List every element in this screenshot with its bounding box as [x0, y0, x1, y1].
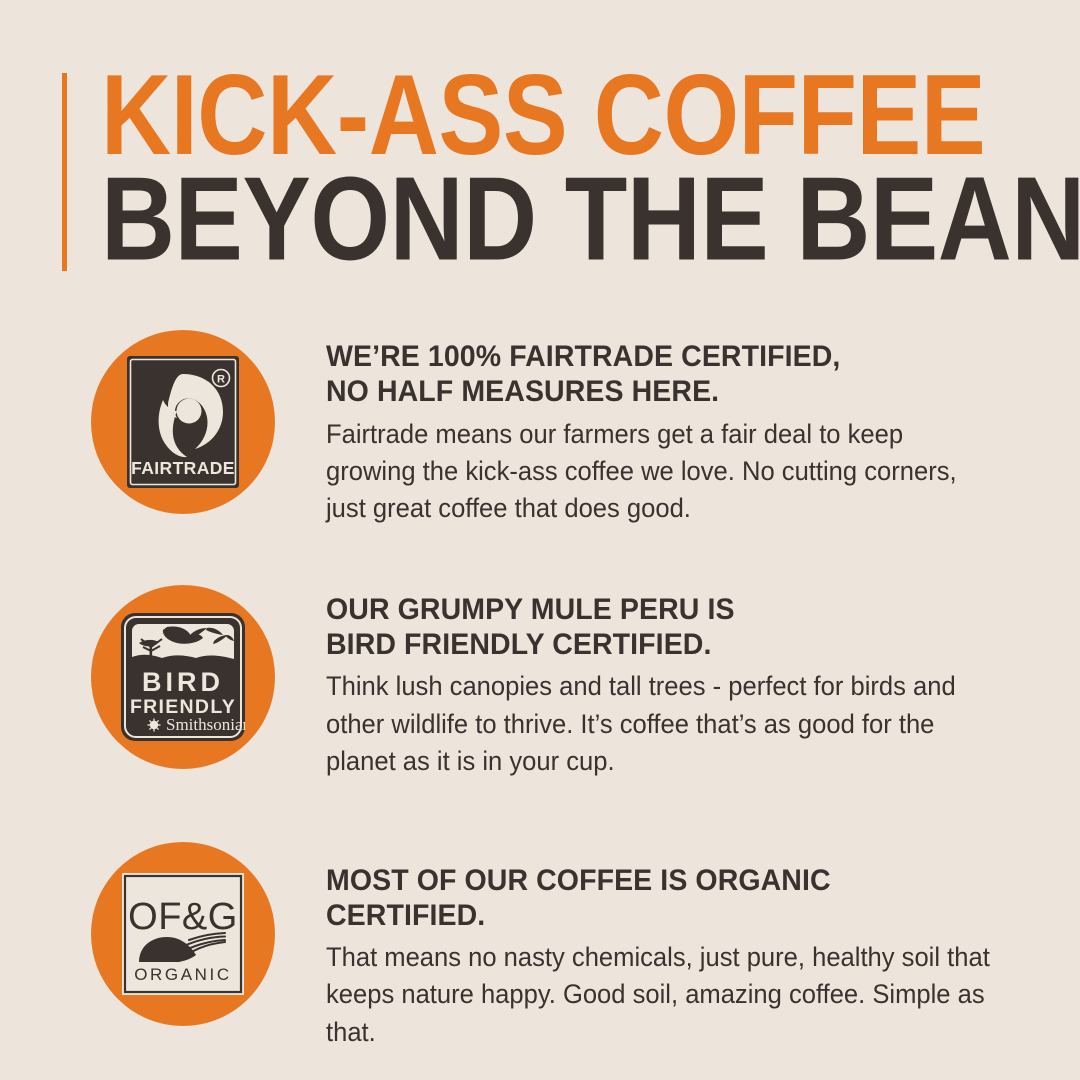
title-line-secondary: BEYOND THE BEANS	[101, 164, 943, 274]
page-header: KICK-ASS COFFEE BEYOND THE BEANS	[0, 0, 1080, 300]
smithsonian-sun-icon	[148, 718, 161, 731]
svg-text:R: R	[217, 374, 225, 386]
certification-heading: OUR GRUMPY MULE PERU IS BIRD FRIENDLY CE…	[326, 593, 983, 663]
page-title: KICK-ASS COFFEE BEYOND THE BEANS	[101, 62, 1021, 269]
fairtrade-logo-icon: R FAIRTRADE	[127, 356, 239, 488]
certification-copy: MOST OF OUR COFFEE IS ORGANIC CERTIFIED.…	[326, 842, 1080, 1051]
accent-bar-icon	[62, 73, 67, 271]
bird-friendly-badge: BIRD FRIENDLY	[91, 585, 275, 769]
certification-body: That means no nasty chemicals, just pure…	[326, 939, 994, 1050]
infographic-page: KICK-ASS COFFEE BEYOND THE BEANS	[0, 0, 1080, 1080]
certification-heading: MOST OF OUR COFFEE IS ORGANIC CERTIFIED.	[326, 864, 983, 934]
organic-wordmark: ORGANIC	[134, 965, 232, 984]
list-item: BIRD FRIENDLY	[0, 585, 1080, 780]
smithsonian-wordmark: Smithsonian	[166, 715, 245, 734]
certification-list: R FAIRTRADE WE’RE 100% FAIRTRADE CERTIFI…	[0, 330, 1080, 1051]
certification-body: Think lush canopies and tall trees - per…	[326, 668, 994, 779]
certification-body: Fairtrade means our farmers get a fair d…	[326, 416, 994, 527]
list-item: R FAIRTRADE WE’RE 100% FAIRTRADE CERTIFI…	[0, 330, 1080, 527]
certification-copy: OUR GRUMPY MULE PERU IS BIRD FRIENDLY CE…	[326, 585, 1080, 780]
fairtrade-wordmark: FAIRTRADE	[131, 458, 235, 478]
list-item: OF&G ORGANIC MOS	[0, 842, 1080, 1051]
ofg-organic-badge: OF&G ORGANIC	[91, 842, 275, 1026]
fairtrade-badge: R FAIRTRADE	[91, 330, 275, 514]
bird-friendly-logo-icon: BIRD FRIENDLY	[121, 613, 245, 741]
ofg-wordmark: OF&G	[128, 896, 238, 938]
bird-wordmark: BIRD	[142, 667, 224, 697]
certification-copy: WE’RE 100% FAIRTRADE CERTIFIED, NO HALF …	[326, 330, 1080, 527]
ofg-organic-logo-icon: OF&G ORGANIC	[122, 873, 244, 995]
certification-heading: WE’RE 100% FAIRTRADE CERTIFIED, NO HALF …	[326, 340, 983, 410]
